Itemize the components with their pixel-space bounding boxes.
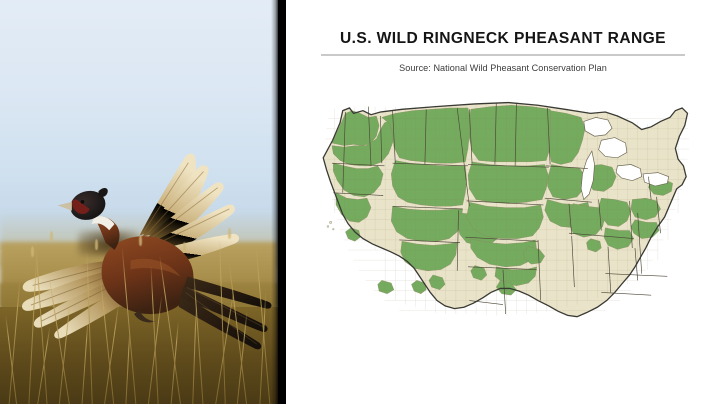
us-map-svg [301,77,705,349]
map-coastal-islands [327,221,334,230]
map-header: U.S. WILD RINGNECK PHEASANT RANGE Source… [286,0,720,73]
map-title: U.S. WILD RINGNECK PHEASANT RANGE [286,30,720,47]
screenshot-root: U.S. WILD RINGNECK PHEASANT RANGE Source… [0,0,720,404]
photo-right-shadow [271,0,278,404]
us-county-choropleth [301,77,705,349]
title-underline-rule [321,54,685,56]
map-source-label: Source: National Wild Pheasant Conservat… [286,63,720,73]
pheasant-photo [0,0,278,404]
pheasant-eye [80,200,84,204]
photo-foreground-grass [0,218,278,404]
pane-divider [278,0,286,404]
map-panel: U.S. WILD RINGNECK PHEASANT RANGE Source… [286,0,720,404]
pheasant-ear-tuft [98,188,107,197]
pheasant-beak [57,202,71,211]
